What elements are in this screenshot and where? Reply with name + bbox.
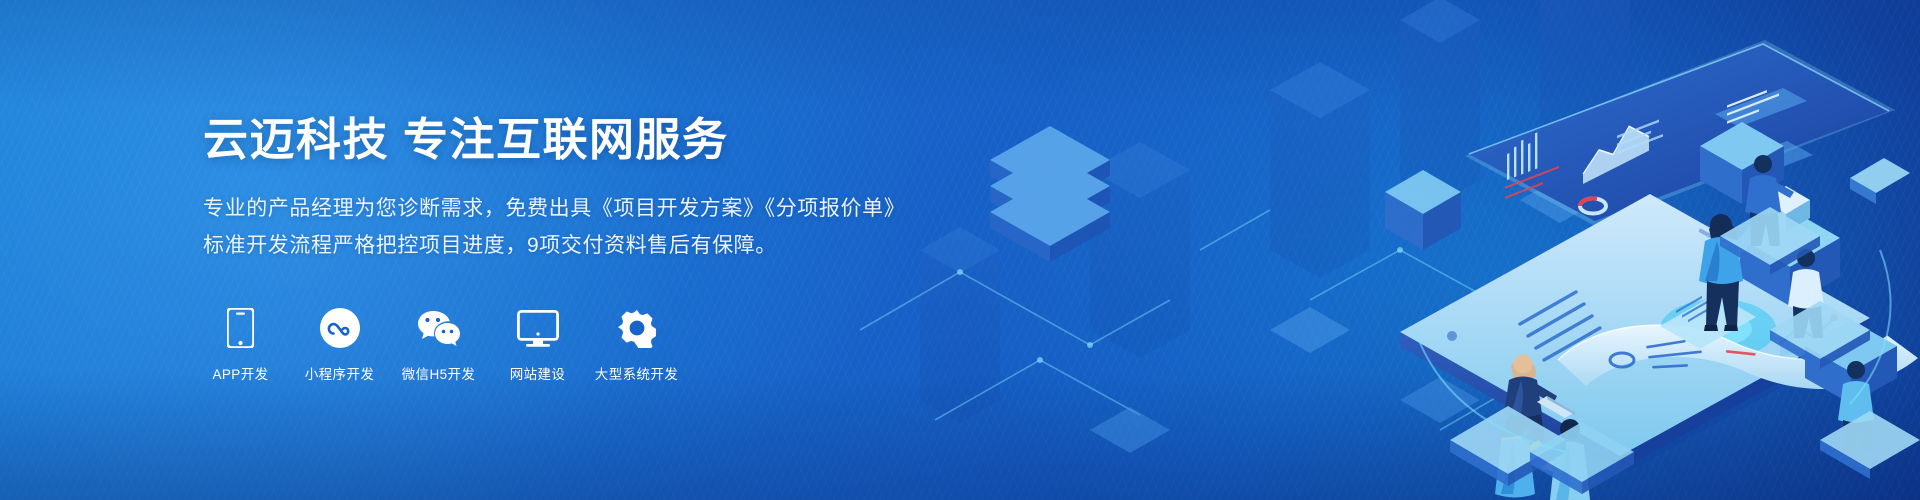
gear-icon (617, 306, 657, 348)
monitor-icon (517, 306, 559, 348)
service-item-system[interactable]: 大型系统开发 (599, 306, 674, 383)
service-label: 小程序开发 (305, 363, 375, 383)
subtitle-line-1: 专业的产品经理为您诊断需求，免费出具《项目开发方案》《分项报价单》 (203, 192, 905, 226)
service-item-app[interactable]: APP开发 (203, 306, 278, 383)
service-label: APP开发 (212, 363, 268, 383)
page-title: 云迈科技 专注互联网服务 (203, 117, 905, 162)
mobile-phone-icon (227, 306, 254, 348)
wechat-icon (416, 306, 462, 348)
hero-banner: 云迈科技 专注互联网服务 专业的产品经理为您诊断需求，免费出具《项目开发方案》《… (0, 0, 1920, 500)
service-item-website[interactable]: 网站建设 (500, 306, 575, 383)
banner-content: 云迈科技 专注互联网服务 专业的产品经理为您诊断需求，免费出具《项目开发方案》《… (203, 0, 905, 500)
service-list: APP开发 小程序开发 (203, 306, 905, 383)
mini-program-icon (320, 306, 360, 348)
subtitle-line-2: 标准开发流程严格把控项目进度，9项交付资料售后有保障。 (203, 229, 905, 263)
service-item-wechat[interactable]: 微信H5开发 (401, 306, 476, 383)
service-label: 大型系统开发 (595, 363, 678, 383)
service-item-miniprogram[interactable]: 小程序开发 (302, 306, 377, 383)
service-label: 网站建设 (510, 363, 566, 383)
isometric-illustration (840, 0, 1920, 500)
service-label: 微信H5开发 (402, 363, 476, 383)
